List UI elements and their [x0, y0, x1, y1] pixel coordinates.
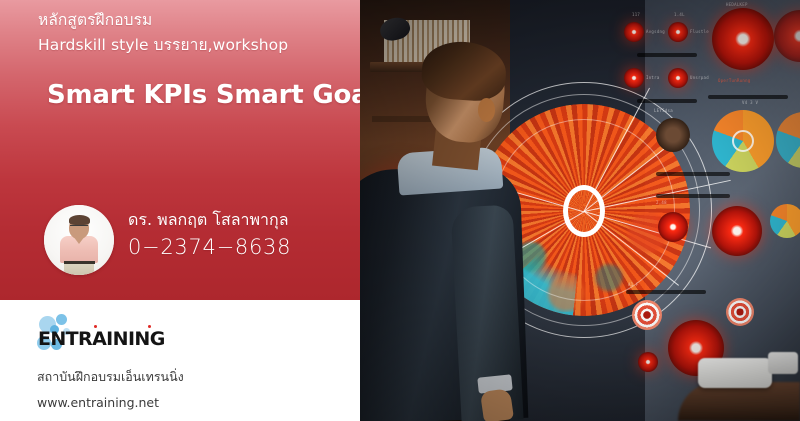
logo-accent-dot-icon-2: [148, 325, 151, 328]
page-title: Smart KPIs Smart Goal: [47, 79, 347, 111]
course-subtitle: หลักสูตรฝึกอบรม Hardskill style บรรยาย,w…: [38, 8, 348, 58]
promo-banner: หลักสูตรฝึกอบรม Hardskill style บรรยาย,w…: [0, 0, 800, 421]
logo-bubble-icon-2: [56, 314, 67, 325]
glasses-icon: [70, 225, 88, 229]
presenter-details: ดร. พลกฤต โสลาพากุล 0−2374−8638: [128, 207, 358, 262]
photo-vignette: [360, 0, 800, 421]
logo-wordmark: ENTRAINING: [38, 328, 165, 350]
hero-photo: Avgsdng Flustle Intra Unsrpad 117 1.4L H…: [360, 0, 800, 421]
footer-panel: ENTRAINING สถาบันฝึกอบรมเอ็นเทรนนิ่ง www…: [0, 300, 360, 421]
avatar: [44, 205, 114, 275]
presenter-block: ดร. พลกฤต โสลาพากุล 0−2374−8638: [44, 205, 344, 277]
logo-accent-dot-icon-1: [94, 325, 97, 328]
website-url[interactable]: www.entraining.net: [37, 394, 337, 412]
presenter-phone: 0−2374−8638: [128, 232, 358, 262]
organization-name: สถาบันฝึกอบรมเอ็นเทรนนิ่ง: [37, 368, 337, 386]
left-info-panel: หลักสูตรฝึกอบรม Hardskill style บรรยาย,w…: [0, 0, 360, 421]
avatar-hair: [69, 215, 90, 225]
entraining-logo[interactable]: ENTRAINING: [37, 314, 197, 358]
subtitle-line-2: Hardskill style บรรยาย,workshop: [38, 33, 348, 58]
avatar-belt: [64, 261, 95, 264]
subtitle-line-1: หลักสูตรฝึกอบรม: [38, 8, 348, 33]
presenter-name: ดร. พลกฤต โสลาพากุล: [128, 207, 358, 232]
